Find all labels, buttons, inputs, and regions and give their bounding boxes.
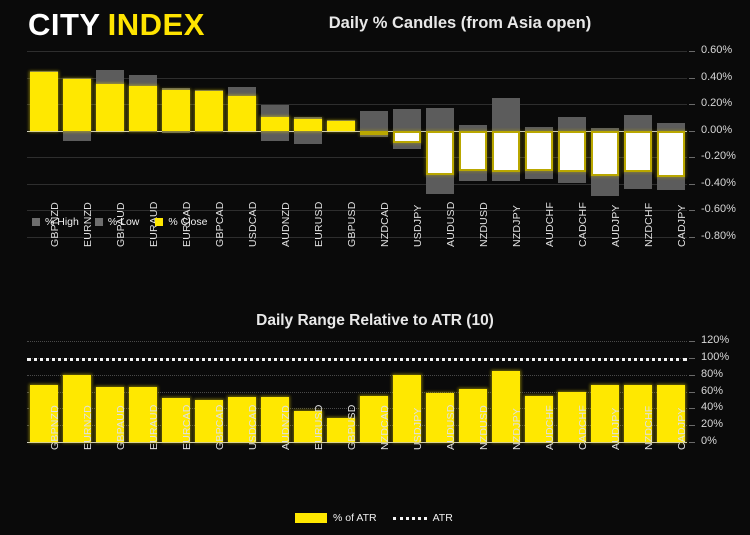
x-axis-category-label: NZDJPY bbox=[511, 205, 523, 247]
gridline bbox=[27, 51, 687, 52]
y-axis-tick-label: 0.00% bbox=[701, 124, 732, 136]
x-axis-category-label: CADJPY bbox=[676, 407, 688, 450]
candle-body-positive bbox=[228, 96, 256, 131]
x-axis-category-label: USDJPY bbox=[412, 204, 424, 247]
x-axis-category-label: USDCAD bbox=[247, 201, 259, 247]
y-axis-tick-label: -0.20% bbox=[701, 150, 736, 162]
candle-body-positive bbox=[162, 90, 190, 131]
chart-page: CITYINDEX Daily % Candles (from Asia ope… bbox=[0, 0, 750, 535]
candle-body-negative bbox=[426, 131, 454, 175]
x-axis-category-label: EURCAD bbox=[181, 404, 193, 450]
legend-item: % High bbox=[32, 216, 79, 228]
gridline bbox=[27, 184, 687, 185]
candle-body-positive bbox=[63, 79, 91, 131]
y-tick-mark bbox=[689, 210, 695, 211]
candle-body-positive bbox=[96, 84, 124, 131]
x-axis-category-label: GBPCAD bbox=[214, 404, 226, 450]
x-axis-category-label: GBPAUD bbox=[115, 405, 127, 450]
gridline bbox=[27, 157, 687, 158]
page-header: CITYINDEX Daily % Candles (from Asia ope… bbox=[0, 0, 750, 48]
y-tick-mark bbox=[689, 157, 695, 158]
y-tick-mark bbox=[689, 78, 695, 79]
y-tick-mark bbox=[689, 237, 695, 238]
gridline bbox=[27, 78, 687, 79]
x-axis-category-label: GBPNZD bbox=[49, 405, 61, 450]
gridline bbox=[27, 375, 687, 376]
legend-swatch-close bbox=[155, 218, 163, 226]
legend-swatch-pct-of-atr bbox=[295, 513, 327, 523]
y-axis-tick-label: 0.40% bbox=[701, 71, 732, 83]
candle-body-negative bbox=[459, 131, 487, 171]
x-axis-category-label: AUDCHF bbox=[544, 405, 556, 450]
legend-item: % Low bbox=[95, 216, 140, 228]
atr-reference-line bbox=[27, 358, 687, 361]
x-axis-category-label: AUDJPY bbox=[610, 204, 622, 247]
y-axis-tick-label: 0.60% bbox=[701, 44, 732, 56]
x-axis-category-label: NZDUSD bbox=[478, 405, 490, 450]
x-axis-category-label: NZDCAD bbox=[379, 202, 391, 247]
x-axis-category-label: CADJPY bbox=[676, 204, 688, 247]
chart1-legend: % High% Low% Close bbox=[32, 216, 223, 228]
legend-label: % Low bbox=[108, 216, 140, 228]
y-axis-tick-label: 80% bbox=[701, 368, 723, 380]
legend-swatch-low bbox=[95, 218, 103, 226]
x-axis-category-label: GBPUSD bbox=[346, 404, 358, 450]
x-axis-category-label: AUDJPY bbox=[610, 407, 622, 450]
x-axis-category-label: EURAUD bbox=[148, 404, 160, 450]
x-axis-category-label: NZDCHF bbox=[643, 203, 655, 247]
x-axis-category-label: EURUSD bbox=[313, 404, 325, 450]
legend-item: % of ATR bbox=[295, 512, 377, 524]
legend-label: % Close bbox=[168, 216, 207, 228]
y-tick-mark bbox=[689, 184, 695, 185]
legend-label: % High bbox=[45, 216, 79, 228]
y-axis-tick-label: 60% bbox=[701, 385, 723, 397]
brand-logo: CITYINDEX bbox=[28, 7, 205, 43]
brand-word-city: CITY bbox=[28, 7, 101, 42]
x-axis-category-label: AUDUSD bbox=[445, 201, 457, 247]
gridline bbox=[27, 341, 687, 342]
x-axis-category-label: USDJPY bbox=[412, 407, 424, 450]
y-tick-mark bbox=[689, 358, 695, 359]
y-tick-mark bbox=[689, 375, 695, 376]
y-axis-tick-label: 120% bbox=[701, 334, 729, 346]
zero-line bbox=[27, 131, 687, 132]
candle-body-negative bbox=[360, 131, 388, 135]
x-axis-category-label: AUDNZD bbox=[280, 405, 292, 450]
x-axis-category-label: AUDUSD bbox=[445, 404, 457, 450]
candle-body-positive bbox=[294, 119, 322, 131]
chart2-legend: % of ATRATR bbox=[295, 512, 469, 524]
candle-body-negative bbox=[558, 131, 586, 172]
y-axis-tick-label: -0.80% bbox=[701, 230, 736, 242]
legend-label: ATR bbox=[433, 512, 453, 524]
candle-body-positive bbox=[261, 117, 289, 130]
y-tick-mark bbox=[689, 425, 695, 426]
legend-swatch-high bbox=[32, 218, 40, 226]
candle-body-positive bbox=[129, 86, 157, 131]
gridline bbox=[27, 104, 687, 105]
candle-body-negative bbox=[657, 131, 685, 178]
x-axis-category-label: EURUSD bbox=[313, 201, 325, 247]
legend-label: % of ATR bbox=[333, 512, 377, 524]
x-axis-category-label: GBPUSD bbox=[346, 201, 358, 247]
x-axis-category-label: CADCHF bbox=[577, 405, 589, 450]
x-axis-category-label: CADCHF bbox=[577, 202, 589, 247]
chart2-title: Daily Range Relative to ATR (10) bbox=[150, 312, 600, 330]
x-axis-category-label: NZDUSD bbox=[478, 202, 490, 247]
chart1-title: Daily % Candles (from Asia open) bbox=[250, 14, 670, 33]
y-tick-mark bbox=[689, 131, 695, 132]
x-axis-category-label: EURNZD bbox=[82, 405, 94, 450]
y-axis-tick-label: -0.60% bbox=[701, 203, 736, 215]
y-tick-mark bbox=[689, 442, 695, 443]
candle-body-negative bbox=[492, 131, 520, 172]
candle-body-negative bbox=[624, 131, 652, 172]
candle-wick-range bbox=[393, 109, 421, 149]
y-axis-tick-label: 20% bbox=[701, 418, 723, 430]
y-axis-tick-label: 0.20% bbox=[701, 97, 732, 109]
y-tick-mark bbox=[689, 341, 695, 342]
x-axis-category-label: NZDCAD bbox=[379, 405, 391, 450]
candle-body-positive bbox=[30, 72, 58, 130]
y-axis-tick-label: 0% bbox=[701, 435, 717, 447]
y-tick-mark bbox=[689, 392, 695, 393]
y-tick-mark bbox=[689, 104, 695, 105]
candle-body-negative bbox=[393, 131, 421, 143]
legend-item: % Close bbox=[155, 216, 207, 228]
x-axis-category-label: NZDCHF bbox=[643, 406, 655, 450]
y-axis-tick-label: 40% bbox=[701, 401, 723, 413]
gridline bbox=[27, 392, 687, 393]
x-axis-category-label: NZDJPY bbox=[511, 408, 523, 450]
x-axis-category-label: USDCAD bbox=[247, 404, 259, 450]
y-tick-mark bbox=[689, 51, 695, 52]
candle-body-positive bbox=[327, 121, 355, 130]
legend-swatch-atr bbox=[393, 517, 427, 520]
legend-item: ATR bbox=[393, 512, 453, 524]
x-axis-category-label: AUDCHF bbox=[544, 202, 556, 247]
candle-body-negative bbox=[591, 131, 619, 176]
candle-body-negative bbox=[525, 131, 553, 171]
brand-word-index: INDEX bbox=[108, 7, 205, 42]
y-axis-tick-label: 100% bbox=[701, 351, 729, 363]
x-axis-category-label: AUDNZD bbox=[280, 202, 292, 247]
candle-body-positive bbox=[195, 91, 223, 131]
y-tick-mark bbox=[689, 408, 695, 409]
y-axis-tick-label: -0.40% bbox=[701, 177, 736, 189]
